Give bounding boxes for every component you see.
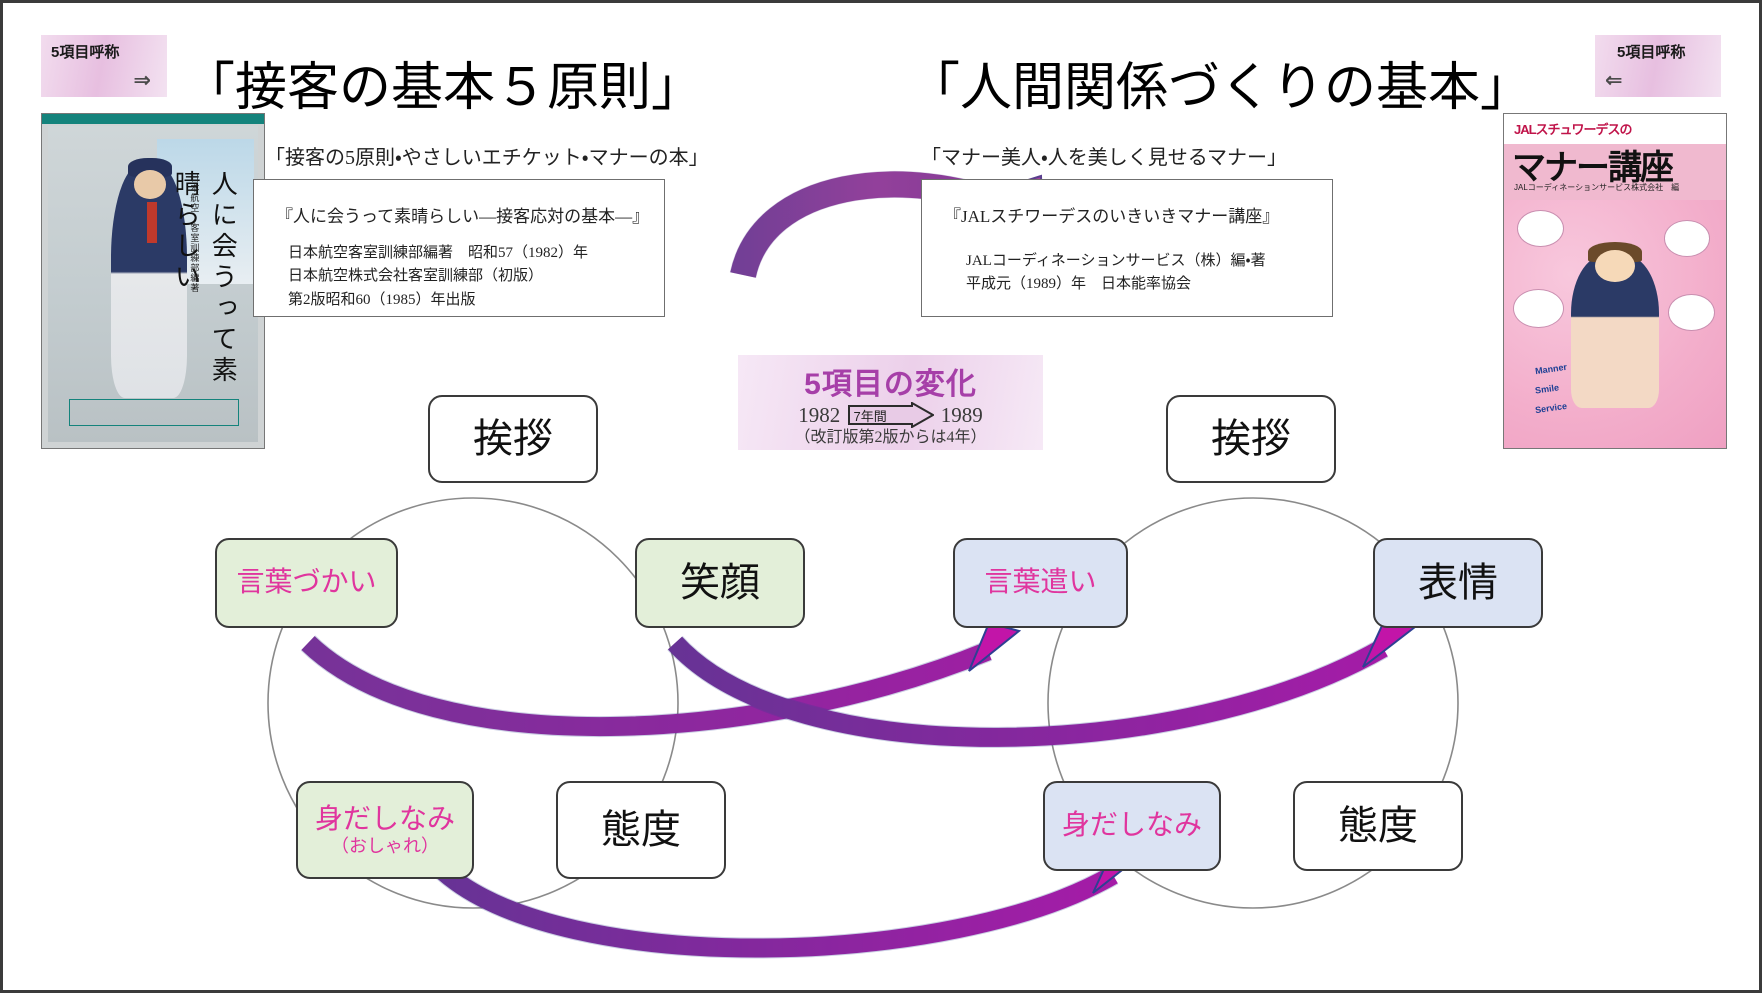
node-right-aisatsu-label: 挨拶 bbox=[1211, 416, 1291, 462]
node-right-kotobazukai[interactable]: 言葉遣い bbox=[953, 538, 1128, 628]
cover-right-brand: JALスチュワーデスの bbox=[1514, 119, 1632, 138]
node-left-kotobazukai[interactable]: 言葉づかい bbox=[215, 538, 398, 628]
cover-right-word-2: Smile bbox=[1534, 382, 1559, 395]
reference-left-line-1: 日本航空客室訓練部編著 昭和57（1982）年 bbox=[288, 242, 588, 265]
page-title-left: 「接客の基本５原則」 bbox=[183, 45, 703, 120]
badge-right-arrow-icon: ⇐ bbox=[1605, 70, 1623, 91]
badge-left: 5項目呼称 ⇒ bbox=[41, 35, 167, 97]
arrow-midashinami bbox=[443, 845, 1145, 948]
badge-left-label: 5項目呼称 bbox=[51, 41, 119, 62]
node-left-aisatsu-label: 挨拶 bbox=[473, 416, 553, 462]
node-right-kotobazukai-label: 言葉遣い bbox=[984, 567, 1096, 599]
node-left-midashinami-sub: （おしゃれ） bbox=[331, 836, 439, 857]
reference-left-line-3: 第2版昭和60（1985）年出版 bbox=[288, 289, 588, 312]
arrow-kotoba bbox=[308, 623, 1019, 727]
node-right-taido-label: 態度 bbox=[1338, 803, 1418, 849]
reference-left-line-2: 日本航空株式会社客室訓練部（初版） bbox=[288, 265, 588, 288]
reference-right-line-1: JALコーディネーションサービス（株）編・著 bbox=[966, 250, 1266, 273]
reference-box-right: 『JALスチワーデスのいきいきマナー講座』 JALコーディネーションサービス（株… bbox=[921, 179, 1333, 317]
page-title-right: 「人間関係づくりの基本」 bbox=[908, 45, 1532, 120]
change-title: 5項目の変化 bbox=[738, 359, 1043, 403]
node-right-hyojo-label: 表情 bbox=[1418, 560, 1498, 606]
node-right-midashinami-label: 身だしなみ bbox=[1062, 810, 1202, 842]
node-left-midashinami-label: 身だしなみ bbox=[315, 804, 455, 836]
cover-right-word-3: Service bbox=[1535, 401, 1568, 415]
node-right-midashinami[interactable]: 身だしなみ bbox=[1043, 781, 1221, 871]
reference-right-lines: JALコーディネーションサービス（株）編・著 平成元（1989）年 日本能率協会 bbox=[966, 250, 1266, 297]
reference-box-left: 『人に会うって素晴らしい―接客応対の基本―』 日本航空客室訓練部編著 昭和57（… bbox=[253, 179, 665, 317]
badge-left-arrow-icon: ⇒ bbox=[133, 70, 151, 91]
node-left-taido[interactable]: 態度 bbox=[556, 781, 726, 879]
change-note: （改訂版第2版からは4年） bbox=[738, 423, 1043, 447]
node-left-egao[interactable]: 笑顔 bbox=[635, 538, 805, 628]
book-cover-left-image: 人に会うって素晴らしい 日本航空 客室訓練部編著 bbox=[41, 113, 265, 449]
reference-left-title: 『人に会うって素晴らしい―接客応対の基本―』 bbox=[276, 202, 649, 227]
node-left-kotobazukai-label: 言葉づかい bbox=[236, 567, 376, 599]
change-summary-box: 5項目の変化 1982 7年間 1989 （改訂版第2版からは4年） bbox=[738, 355, 1043, 450]
badge-right: 5項目呼称 ⇐ bbox=[1595, 35, 1721, 97]
node-left-egao-label: 笑顔 bbox=[680, 560, 760, 606]
book-cover-right-image: JALスチュワーデスの マナー講座 JALコーディネーションサービス株式会社 編… bbox=[1503, 113, 1727, 449]
node-right-aisatsu[interactable]: 挨拶 bbox=[1166, 395, 1336, 483]
reference-right-line-2: 平成元（1989）年 日本能率協会 bbox=[966, 273, 1266, 296]
node-left-midashinami[interactable]: 身だしなみ （おしゃれ） bbox=[296, 781, 474, 879]
slide-canvas: 5項目呼称 ⇒ 5項目呼称 ⇐ 「接客の基本５原則」 「人間関係づくりの基本」 … bbox=[0, 0, 1762, 993]
arrow-egao-hyojo bbox=[675, 619, 1415, 737]
cover-left-vertical-title: 人に会うって素晴らしい bbox=[208, 170, 242, 391]
caption-right: 「マナー美人・人を美しく見せるマナー」 bbox=[921, 141, 1287, 170]
node-left-aisatsu[interactable]: 挨拶 bbox=[428, 395, 598, 483]
reference-right-title: 『JALスチワーデスのいきいきマナー講座』 bbox=[944, 202, 1279, 227]
cover-right-word-1: Manner bbox=[1535, 361, 1568, 375]
node-left-taido-label: 態度 bbox=[601, 807, 681, 853]
cover-left-vertical-sub: 日本航空 客室訓練部編著 bbox=[188, 173, 201, 293]
node-right-taido[interactable]: 態度 bbox=[1293, 781, 1463, 871]
badge-right-label: 5項目呼称 bbox=[1617, 41, 1685, 62]
cover-right-sub: JALコーディネーションサービス株式会社 編 bbox=[1514, 182, 1679, 193]
reference-left-lines: 日本航空客室訓練部編著 昭和57（1982）年 日本航空株式会社客室訓練部（初版… bbox=[288, 242, 588, 312]
node-right-hyojo[interactable]: 表情 bbox=[1373, 538, 1543, 628]
caption-left: 「接客の5原則・やさしいエチケット・マナーの本」 bbox=[265, 141, 709, 170]
